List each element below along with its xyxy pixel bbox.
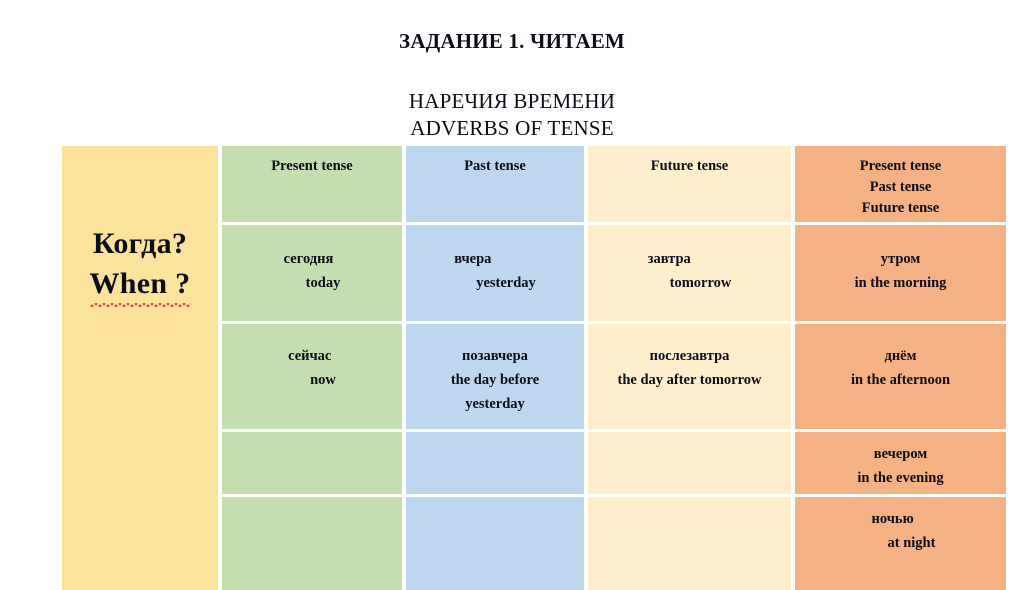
subtitle: НАРЕЧИЯ ВРЕМЕНИ ADVERBS OF TENSE [0, 88, 1024, 142]
term-english: the day before yesterday [420, 368, 570, 416]
table-cell: вчера yesterday [406, 225, 584, 321]
table-cell: днём in the afternoon [795, 324, 1006, 429]
term-english: tomorrow [648, 271, 732, 295]
header-line: Present tense [271, 156, 352, 177]
subtitle-english: ADVERBS OF TENSE [0, 115, 1024, 142]
question-cell: Когда? When ? [62, 146, 218, 590]
term-english: in the morning [855, 271, 947, 295]
table-cell: позавчера the day before yesterday [406, 324, 584, 429]
term-english: in the evening [857, 466, 943, 490]
term-russian: позавчера [420, 344, 570, 368]
term-english: in the afternoon [851, 368, 950, 392]
subtitle-russian: НАРЕЧИЯ ВРЕМЕНИ [0, 88, 1024, 115]
term-russian: завтра [648, 247, 732, 271]
term-russian: сегодня [284, 247, 341, 271]
header-line: Future tense [862, 198, 939, 219]
term-english: the day after tomorrow [617, 368, 761, 392]
header-line: Past tense [464, 156, 526, 177]
term-russian: сейчас [288, 344, 336, 368]
table-cell: послезавтра the day after tomorrow [588, 324, 791, 429]
term-russian: послезавтра [617, 344, 761, 368]
header-past-tense: Past tense [406, 146, 584, 222]
main-title-text: ЗАДАНИЕ 1. ЧИТАЕМ [0, 28, 1024, 54]
table-cell-empty [406, 497, 584, 590]
table-cell: сегодня today [222, 225, 402, 321]
table-cell: завтра tomorrow [588, 225, 791, 321]
question-label-english: When ? [90, 264, 191, 306]
term-russian: утром [855, 247, 947, 271]
header-present-tense: Present tense [222, 146, 402, 222]
term-english: yesterday [454, 271, 536, 295]
table-cell-empty [588, 432, 791, 494]
table-cell-empty [588, 497, 791, 590]
term-english: now [288, 368, 336, 392]
term-russian: ночью [866, 507, 936, 531]
term-russian: вчера [454, 247, 536, 271]
adverbs-of-tense-table: Когда? When ? Present tense Past tense F… [62, 146, 990, 578]
table-cell-empty [406, 432, 584, 494]
header-line: Past tense [870, 177, 932, 198]
term-russian: днём [851, 344, 950, 368]
term-russian: вечером [857, 442, 943, 466]
table-cell: сейчас now [222, 324, 402, 429]
question-label-russian: Когда? [93, 224, 187, 264]
table-cell: ночью at night [795, 497, 1006, 590]
header-future-tense: Future tense [588, 146, 791, 222]
page-title: ЗАДАНИЕ 1. ЧИТАЕМ [0, 28, 1024, 54]
table-cell-empty [222, 432, 402, 494]
header-line: Future tense [651, 156, 728, 177]
term-english: today [284, 271, 341, 295]
term-english: at night [866, 531, 936, 555]
table-cell-empty [222, 497, 402, 590]
header-all-tenses: Present tense Past tense Future tense [795, 146, 1006, 222]
header-line: Present tense [860, 156, 941, 177]
table-cell: утром in the morning [795, 225, 1006, 321]
table-cell: вечером in the evening [795, 432, 1006, 494]
